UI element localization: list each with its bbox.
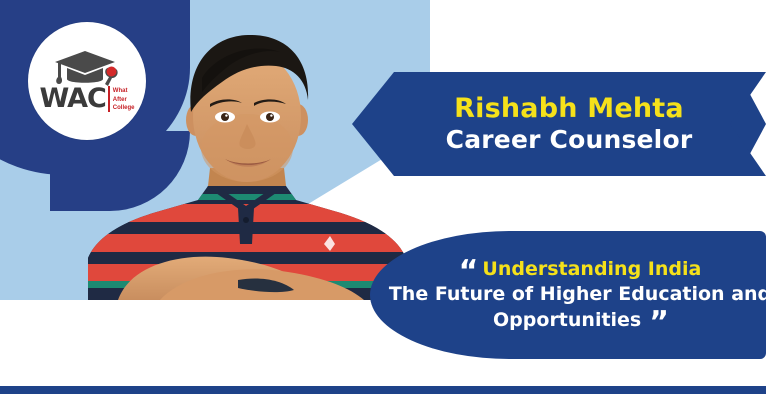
quote-line-1-wrap: “Understanding India bbox=[389, 257, 766, 283]
wac-logo: WAC What After College bbox=[28, 22, 146, 140]
quote-line-3-wrap: Opportunities” bbox=[389, 308, 766, 334]
quote-line-1: Understanding India bbox=[482, 258, 701, 280]
quote-text: “Understanding India The Future of Highe… bbox=[389, 257, 766, 334]
logo-wordmark: WAC What After College bbox=[40, 85, 135, 113]
promo-banner: WAC What After College Rishabh Mehta Car… bbox=[0, 0, 766, 400]
speaker-role: Career Counselor bbox=[446, 125, 693, 155]
logo-tagline-line-2: After bbox=[113, 97, 127, 103]
bottom-accent-bar bbox=[0, 386, 766, 394]
open-quote-icon: “ bbox=[459, 254, 477, 289]
logo-tagline-line-3: College bbox=[113, 105, 135, 111]
graduation-cap-icon bbox=[51, 49, 123, 87]
speaker-name: Rishabh Mehta bbox=[454, 93, 684, 124]
logo-divider bbox=[108, 86, 110, 112]
quote-line-3: Opportunities bbox=[493, 309, 641, 331]
logo-wordmark-text: WAC bbox=[40, 85, 106, 112]
logo-tagline-line-1: What bbox=[113, 88, 128, 94]
quote-card: “Understanding India The Future of Highe… bbox=[370, 231, 766, 359]
close-quote-icon: ” bbox=[649, 305, 667, 340]
speaker-name-ribbon: Rishabh Mehta Career Counselor bbox=[352, 72, 766, 176]
logo-tagline: What After College bbox=[113, 85, 135, 113]
quote-line-2: The Future of Higher Education and bbox=[389, 282, 766, 308]
